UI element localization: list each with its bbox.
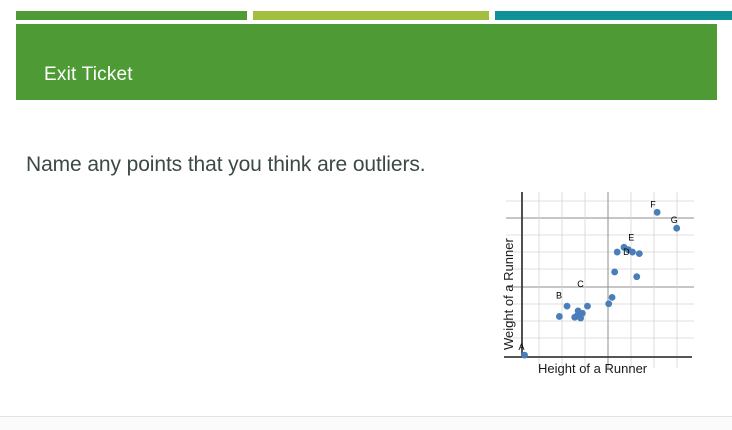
scatter-point-label: C xyxy=(577,279,584,289)
slide-canvas: Exit Ticket Name any points that you thi… xyxy=(0,0,732,430)
scatter-point xyxy=(564,303,571,310)
scatter-plot-figure: ABCDEFG Height of a Runner Weight of a R… xyxy=(496,190,696,385)
scatter-point xyxy=(629,249,636,256)
scatter-point xyxy=(521,352,528,359)
scatter-point-label: E xyxy=(628,233,634,243)
scatter-point xyxy=(633,273,640,280)
scatter-point xyxy=(614,249,621,256)
accent-bar xyxy=(16,11,732,20)
scatter-point xyxy=(609,294,616,301)
scatter-point xyxy=(654,209,661,216)
scatter-point xyxy=(579,310,586,317)
scatter-point xyxy=(673,225,680,232)
accent-segment-green xyxy=(16,11,247,20)
accent-segment-teal xyxy=(495,11,732,20)
scatter-point xyxy=(584,303,591,310)
scatter-plot-svg: ABCDEFG Height of a Runner Weight of a R… xyxy=(496,190,696,385)
scatter-point xyxy=(556,313,563,320)
scatter-point-label: G xyxy=(671,215,678,225)
title-banner: Exit Ticket xyxy=(16,24,717,100)
question-prompt: Name any points that you think are outli… xyxy=(26,153,425,177)
y-axis-title: Weight of a Runner xyxy=(501,238,516,350)
scatter-point-label: F xyxy=(650,199,656,209)
slide-title: Exit Ticket xyxy=(44,64,133,86)
scatter-point-label: B xyxy=(556,291,562,301)
x-axis-title: Height of a Runner xyxy=(538,361,648,376)
scatter-point-label: A xyxy=(519,342,525,352)
accent-segment-lime xyxy=(253,11,489,20)
scatter-point xyxy=(611,269,618,276)
bottom-strip xyxy=(0,417,732,430)
scatter-point xyxy=(605,300,612,307)
scatter-point xyxy=(636,250,643,257)
scatter-point-label: D xyxy=(623,247,630,257)
